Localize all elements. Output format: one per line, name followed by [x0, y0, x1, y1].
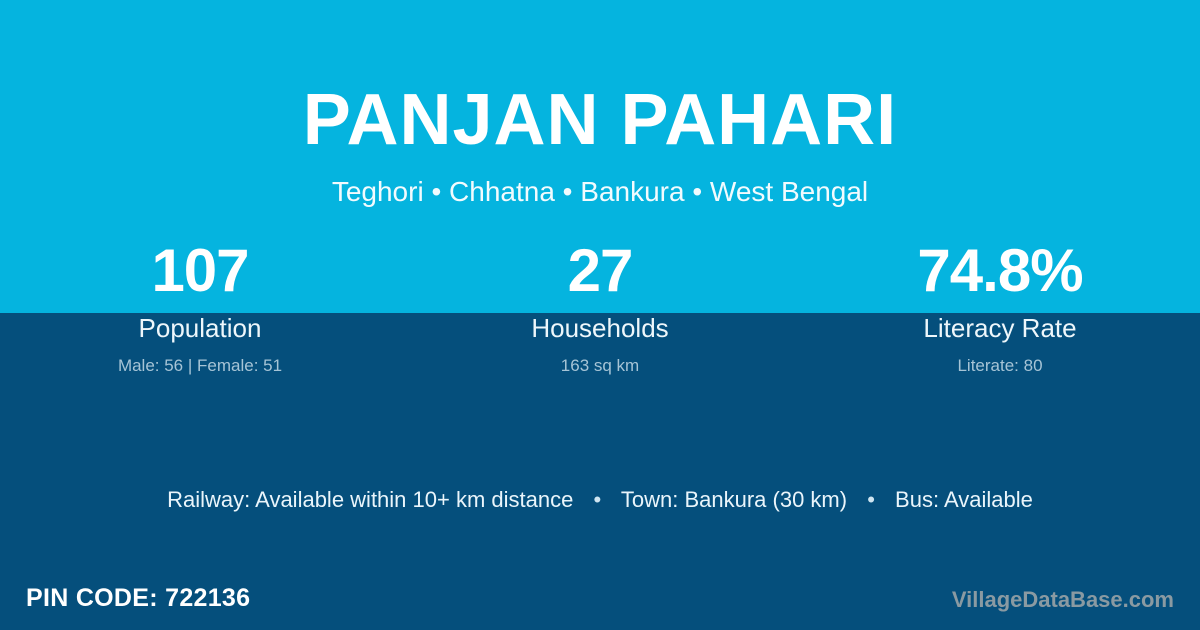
amenity-town: Town: Bankura (30 km): [621, 487, 847, 512]
amenity-bus: Bus: Available: [895, 487, 1033, 512]
breadcrumb: Teghori • Chhatna • Bankura • West Benga…: [0, 178, 1200, 206]
stat-value: 107: [0, 238, 400, 304]
stats-row: 107 Population Male: 56 | Female: 51 27 …: [0, 238, 1200, 377]
site-watermark: VillageDataBase.com: [952, 587, 1174, 613]
footer: PIN CODE: 722136 VillageDataBase.com: [0, 568, 1200, 630]
stat-population: 107 Population Male: 56 | Female: 51: [0, 238, 400, 377]
amenity-railway: Railway: Available within 10+ km distanc…: [167, 487, 573, 512]
stat-households: 27 Households 163 sq km: [400, 238, 800, 377]
stat-label: Literacy Rate: [800, 313, 1200, 343]
stat-value: 74.8%: [800, 238, 1200, 304]
village-info-card: PANJAN PAHARI Teghori • Chhatna • Bankur…: [0, 0, 1200, 630]
header-block: PANJAN PAHARI Teghori • Chhatna • Bankur…: [0, 0, 1200, 206]
pin-code: PIN CODE: 722136: [26, 584, 250, 612]
stat-label: Population: [0, 313, 400, 343]
stat-value: 27: [400, 238, 800, 304]
amenities-line: Railway: Available within 10+ km distanc…: [0, 485, 1200, 515]
bullet-separator-icon: •: [853, 485, 889, 515]
stat-literacy-rate: 74.8% Literacy Rate Literate: 80: [800, 238, 1200, 377]
stat-sublabel: Literate: 80: [800, 355, 1200, 377]
stat-label: Households: [400, 313, 800, 343]
stat-sublabel: 163 sq km: [400, 355, 800, 377]
bullet-separator-icon: •: [579, 485, 615, 515]
stat-sublabel: Male: 56 | Female: 51: [0, 355, 400, 377]
page-title: PANJAN PAHARI: [0, 84, 1200, 156]
